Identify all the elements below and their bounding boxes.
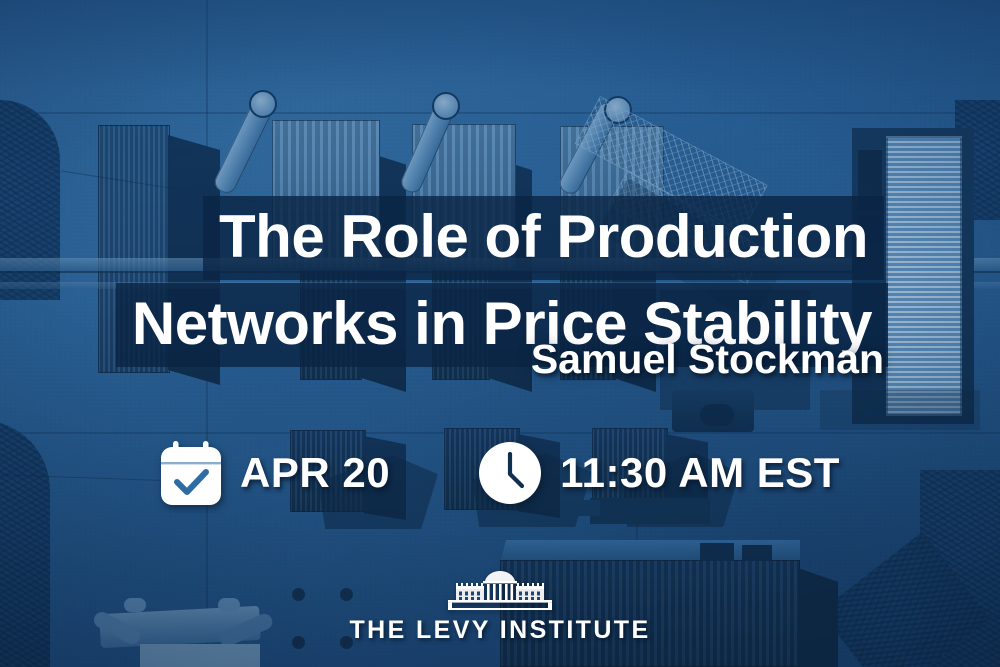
event-date-label: APR 20 <box>240 449 390 497</box>
levy-institute-wordmark: THE LEVY INSTITUTE <box>0 616 1000 645</box>
speaker-name: Samuel Stockman <box>531 336 884 383</box>
calendar-check-icon <box>160 440 222 506</box>
event-date: APR 20 <box>160 440 390 506</box>
clock-icon <box>478 441 542 505</box>
poster-content: The Role of Production Networks in Price… <box>0 0 1000 667</box>
levy-institute-logo: THE LEVY INSTITUTE <box>0 568 1000 645</box>
event-time-label: 11:30 AM EST <box>560 449 840 497</box>
speaker-row: Samuel Stockman <box>0 336 884 383</box>
title-line-1: The Role of Production <box>203 196 884 280</box>
mansion-building-icon <box>440 568 560 612</box>
event-announcement-poster: The Role of Production Networks in Price… <box>0 0 1000 667</box>
event-meta-row: APR 20 11:30 AM EST <box>0 440 1000 506</box>
event-time: 11:30 AM EST <box>478 441 840 505</box>
